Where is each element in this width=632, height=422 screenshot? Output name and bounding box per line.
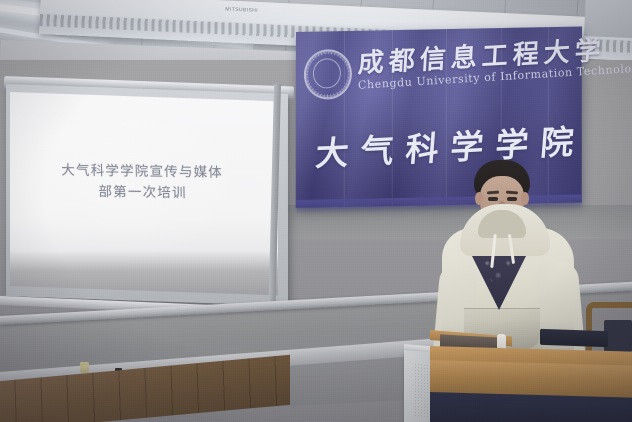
slide-text: 大气科学学院宣传与媒体 部第一次培训 [24, 160, 261, 205]
classroom-photo: MITSUBISHI 大气科学学院宣传与媒体 部第一次培训 成都信息工程大学 C… [0, 0, 632, 422]
wall-hook-icon [80, 362, 89, 373]
presenter-ear-left [475, 192, 483, 205]
presenter-eye-left [488, 197, 498, 201]
air-conditioner-brand-label: MITSUBISHI [225, 6, 258, 13]
university-seal-ring [306, 51, 350, 98]
laptop [540, 329, 608, 347]
chair-seat-shadow [604, 320, 632, 352]
presenter-ear-right [521, 192, 529, 205]
presenter-eye-right [507, 197, 517, 201]
podium-skirt [430, 392, 632, 422]
